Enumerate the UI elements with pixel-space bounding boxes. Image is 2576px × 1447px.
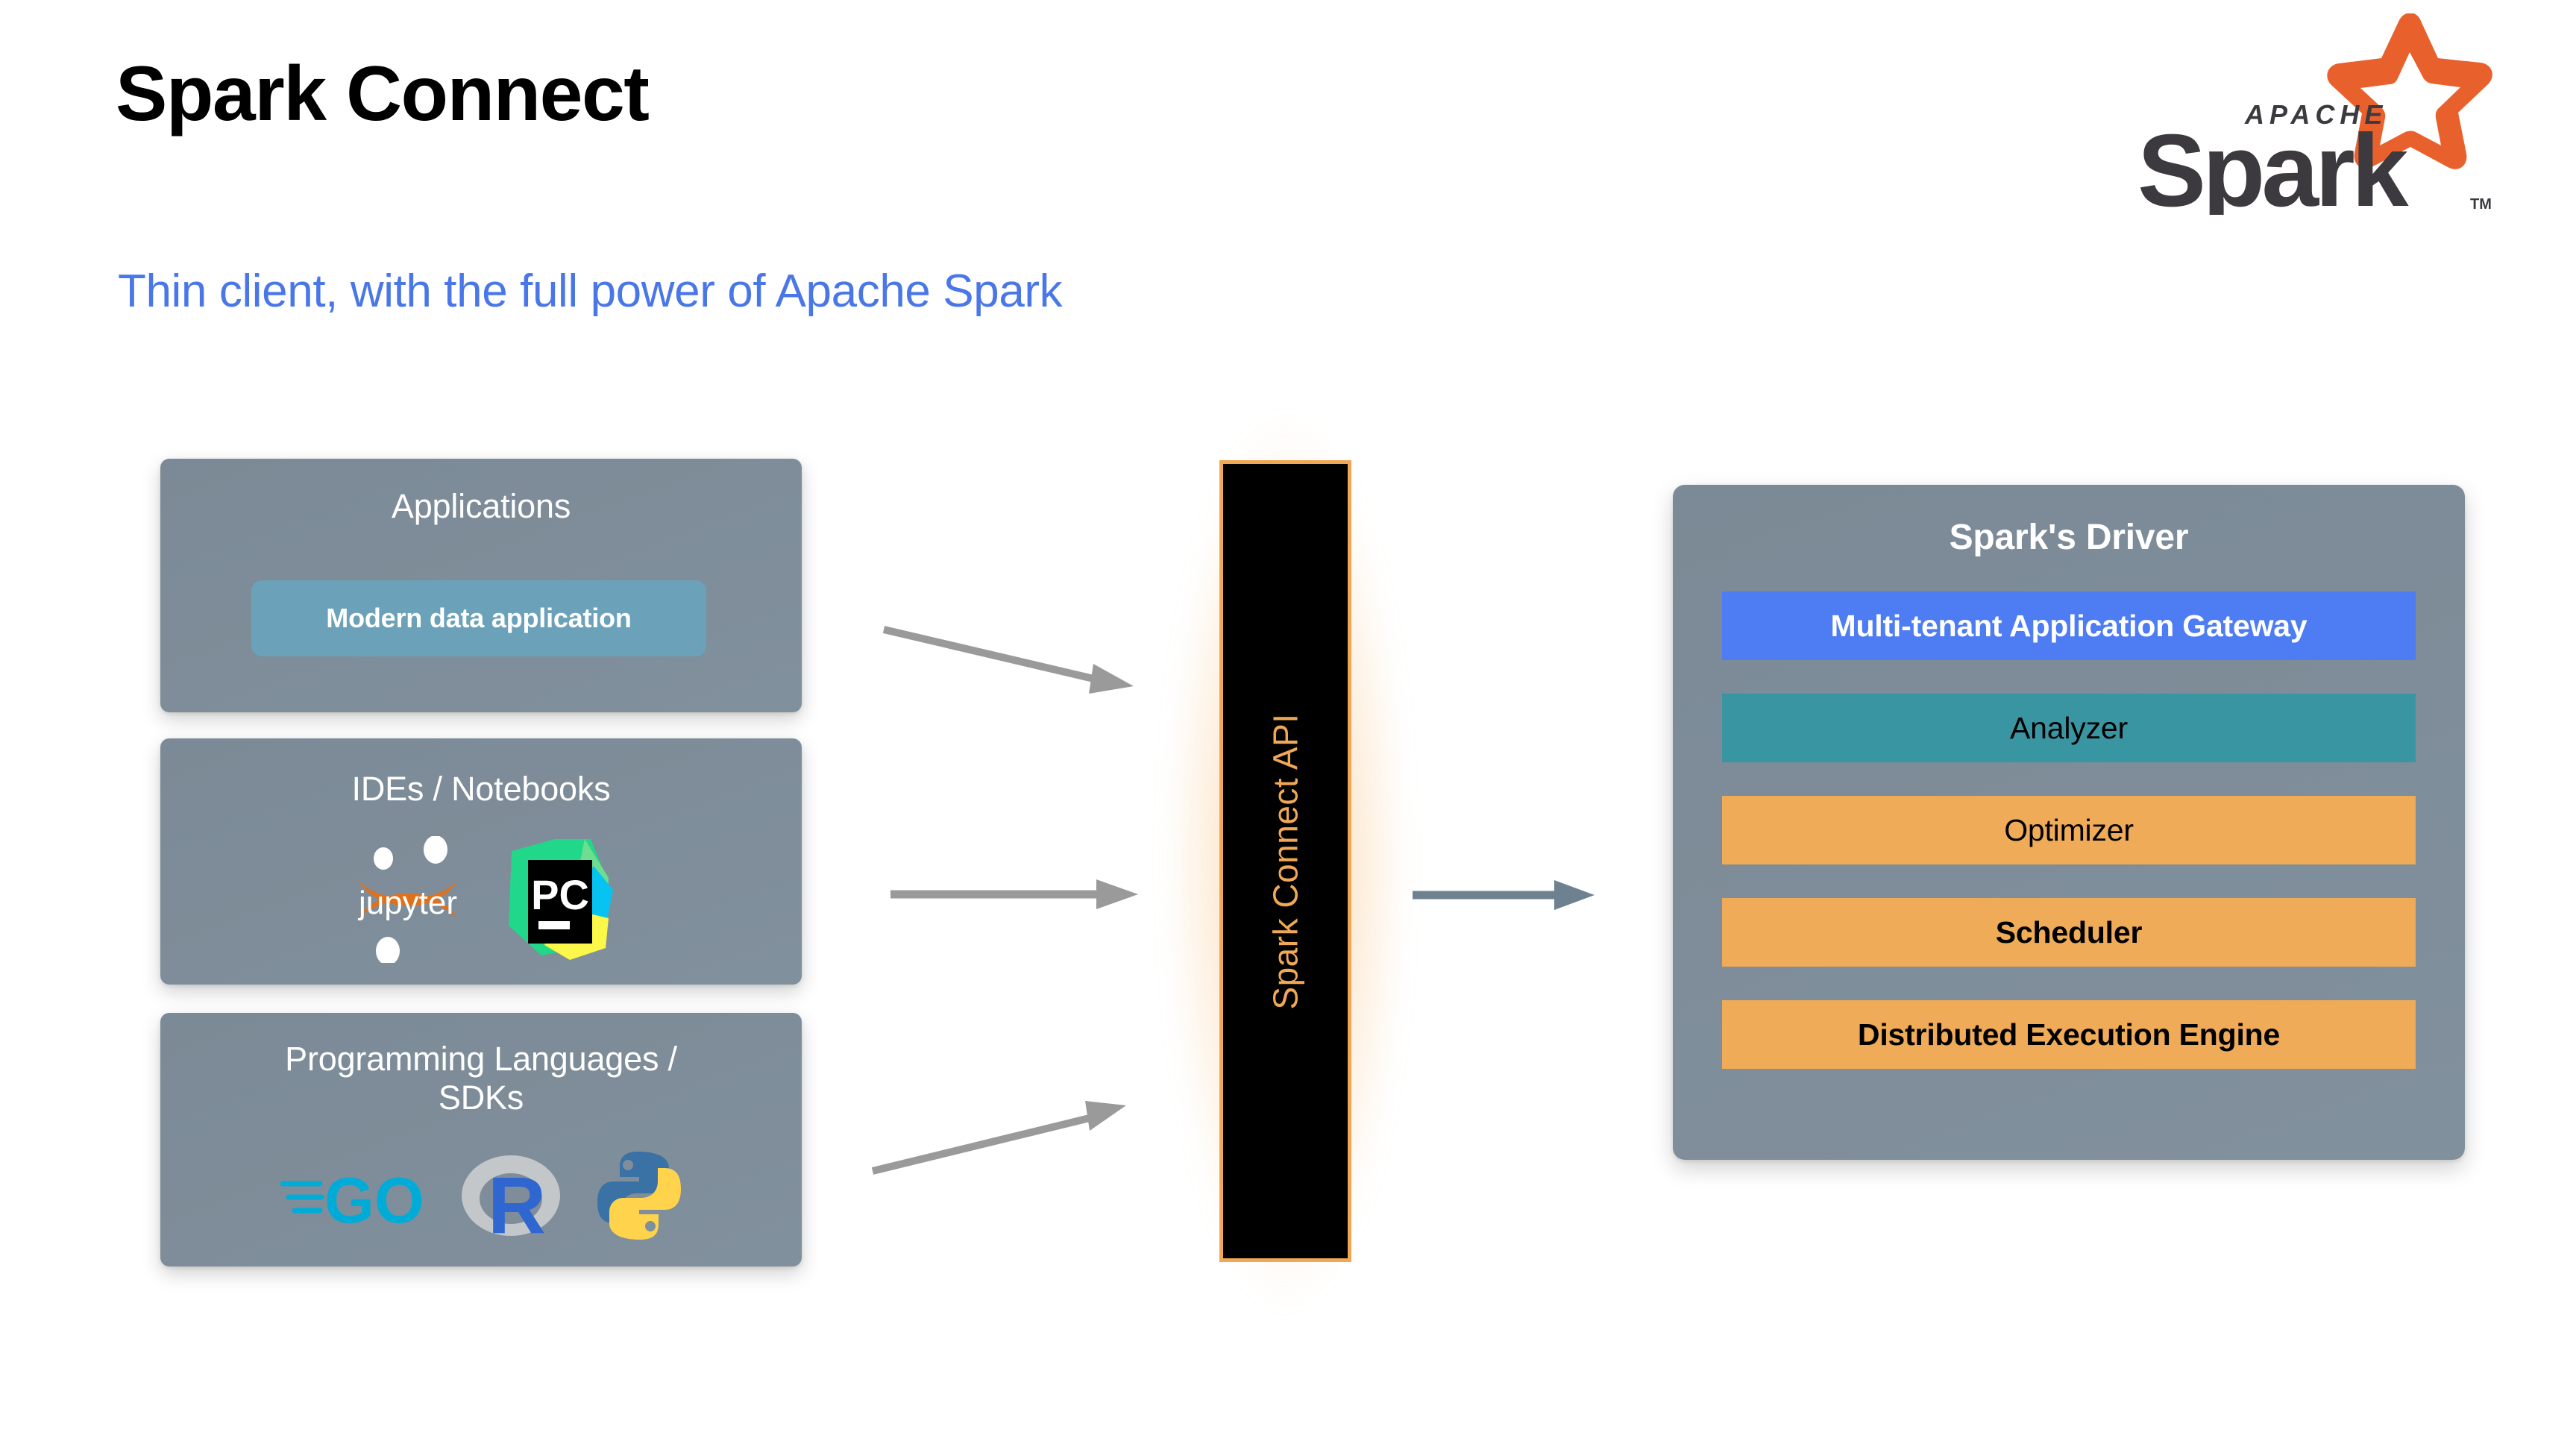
arrow-applications-to-api (880, 619, 1178, 716)
spark-driver-title: Spark's Driver (1673, 517, 2465, 558)
driver-row-distributed-execution-engine[interactable]: Distributed Execution Engine (1722, 1000, 2416, 1069)
driver-row-optimizer[interactable]: Optimizer (1722, 796, 2416, 864)
panel-languages-title-line-1: Programming Languages / (285, 1040, 677, 1078)
ide-logo-row: jupyter PC (160, 834, 802, 964)
panel-languages-title-line-2: SDKs (439, 1079, 524, 1117)
jupyter-logo: jupyter (345, 836, 471, 963)
panel-applications: Applications Modern data application (160, 459, 802, 712)
spark-connect-api-label: Spark Connect API (1266, 713, 1306, 1009)
golang-logo-label: GO (324, 1165, 424, 1235)
language-logo-row: GO R (160, 1143, 802, 1248)
driver-row-multi-tenant-application-gateway[interactable]: Multi-tenant Application Gateway (1722, 591, 2416, 660)
panel-ides-notebooks: IDEs / Notebooks jupyter PC (160, 738, 802, 985)
apache-spark-logo: APACHE Spark TM (2133, 13, 2521, 215)
page-subtitle: Thin client, with the full power of Apac… (118, 265, 1062, 318)
arrow-languages-to-api (869, 1059, 1182, 1182)
panel-applications-title: Applications (160, 487, 802, 526)
pycharm-logo-label: PC (531, 871, 589, 918)
jupyter-logo-label: jupyter (356, 885, 456, 921)
spark-connect-api-bar[interactable]: Spark Connect API (1219, 460, 1351, 1262)
panel-programming-languages-sdks-title: Programming Languages / SDKs (160, 1040, 802, 1117)
svg-text:Spark: Spark (2137, 113, 2409, 215)
pycharm-logo: PC (495, 836, 618, 963)
driver-row-analyzer[interactable]: Analyzer (1722, 694, 2416, 762)
panel-ides-notebooks-title: IDEs / Notebooks (160, 770, 802, 809)
modern-data-application-button[interactable]: Modern data application (251, 580, 706, 656)
driver-row-scheduler[interactable]: Scheduler (1722, 898, 2416, 967)
panel-programming-languages-sdks: Programming Languages / SDKs GO R (160, 1013, 802, 1266)
arrow-api-to-driver (1410, 865, 1618, 925)
arrow-ides-to-api (888, 861, 1171, 929)
spark-driver-panel: Spark's Driver Multi-tenant Application … (1673, 485, 2465, 1160)
r-language-logo-label: R (488, 1160, 546, 1243)
page-title: Spark Connect (116, 54, 648, 135)
spark-driver-row-list: Multi-tenant Application Gateway Analyze… (1722, 591, 2416, 1069)
python-logo (594, 1150, 684, 1241)
svg-text:TM: TM (2470, 196, 2492, 213)
r-language-logo: R (459, 1149, 563, 1243)
golang-logo: GO (278, 1157, 427, 1235)
